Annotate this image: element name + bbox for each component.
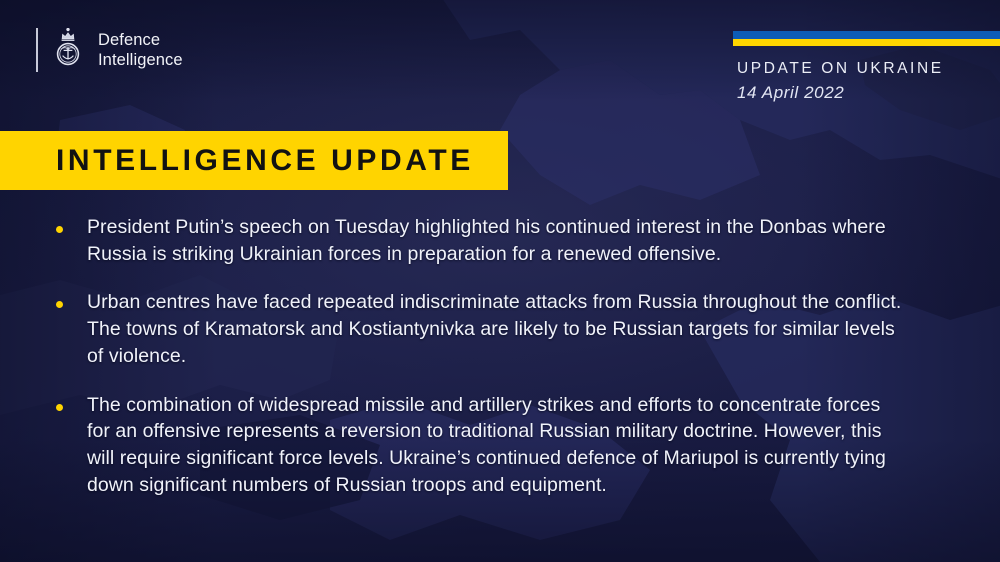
bullet-text: Urban centres have faced repeated indisc… — [87, 289, 907, 369]
bullet-dot-icon — [56, 226, 63, 233]
flag-blue-stripe — [733, 31, 1000, 39]
intelligence-update-banner: INTELLIGENCE UPDATE — [0, 131, 508, 190]
header-right-block: UPDATE ON UKRAINE 14 April 2022 — [0, 60, 1000, 103]
bullet-list: President Putin’s speech on Tuesday high… — [56, 214, 964, 520]
update-date: 14 April 2022 — [733, 83, 1000, 103]
bullet-text: The combination of widespread missile an… — [87, 392, 907, 499]
bullet-dot-icon — [56, 404, 63, 411]
bullet-dot-icon — [56, 301, 63, 308]
list-item: President Putin’s speech on Tuesday high… — [56, 214, 964, 267]
bullet-text: President Putin’s speech on Tuesday high… — [87, 214, 907, 267]
brand-line-defence: Defence — [98, 30, 183, 50]
update-title: UPDATE ON UKRAINE — [733, 60, 1000, 78]
intelligence-update-slide: Defence Intelligence UPDATE ON UKRAINE 1… — [0, 0, 1000, 562]
list-item: Urban centres have faced repeated indisc… — [56, 289, 964, 369]
ukraine-flag-bar — [733, 31, 1000, 46]
banner-title: INTELLIGENCE UPDATE — [0, 144, 474, 178]
list-item: The combination of widespread missile an… — [56, 392, 964, 499]
flag-yellow-stripe — [733, 39, 1000, 47]
